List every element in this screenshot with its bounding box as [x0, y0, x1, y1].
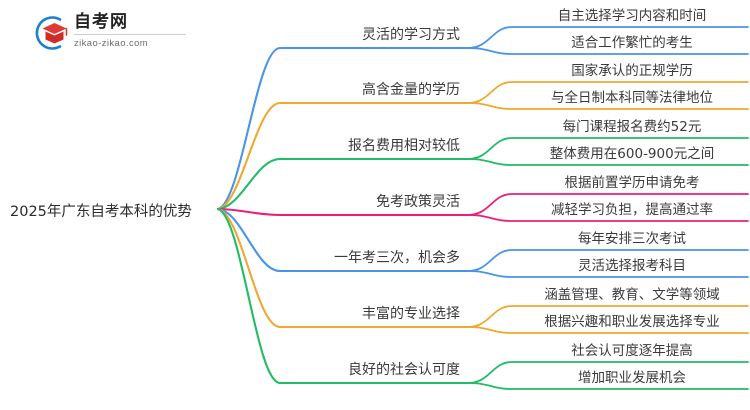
leaf-label-7-1[interactable]: 社会认可度逐年提高 [516, 339, 748, 359]
leaf-label-3-1[interactable]: 每门课程报名费约52元 [516, 115, 748, 135]
leaf-label-6-1[interactable]: 涵盖管理、教育、文学等领域 [516, 283, 748, 303]
leaf-label-5-1[interactable]: 每年安排三次考试 [516, 227, 748, 247]
branch-label-5[interactable]: 一年考三次，机会多 [240, 247, 460, 267]
leaf-label-4-1[interactable]: 根据前置学历申请免考 [516, 171, 748, 191]
leaf-label-4-2[interactable]: 减轻学习负担，提高通过率 [516, 198, 748, 218]
leaf-label-2-2[interactable]: 与全日制本科同等法律地位 [516, 86, 748, 106]
branch-label-1[interactable]: 灵活的学习方式 [240, 24, 460, 44]
leaf-label-6-2[interactable]: 根据兴趣和职业发展选择专业 [516, 310, 748, 330]
leaf-label-7-2[interactable]: 增加职业发展机会 [516, 366, 748, 386]
leaf-label-1-1[interactable]: 自主选择学习内容和时间 [516, 4, 748, 24]
leaf-label-3-2[interactable]: 整体费用在600-900元之间 [516, 142, 748, 162]
branch-label-7[interactable]: 良好的社会认可度 [240, 359, 460, 379]
branch-label-2[interactable]: 高含金量的学历 [240, 79, 460, 99]
branch-label-4[interactable]: 免考政策灵活 [240, 191, 460, 211]
mindmap-canvas: 自考网 zikao-zikao.com 2025年广东自考本科的优势 灵活的学习… [0, 0, 750, 410]
leaf-label-5-2[interactable]: 灵活选择报考科目 [516, 254, 748, 274]
leaf-label-1-2[interactable]: 适合工作繁忙的考生 [516, 31, 748, 51]
branch-label-3[interactable]: 报名费用相对较低 [240, 135, 460, 155]
branch-label-6[interactable]: 丰富的专业选择 [240, 303, 460, 323]
leaf-label-2-1[interactable]: 国家承认的正规学历 [516, 59, 748, 79]
root-topic[interactable]: 2025年广东自考本科的优势 [10, 200, 192, 221]
